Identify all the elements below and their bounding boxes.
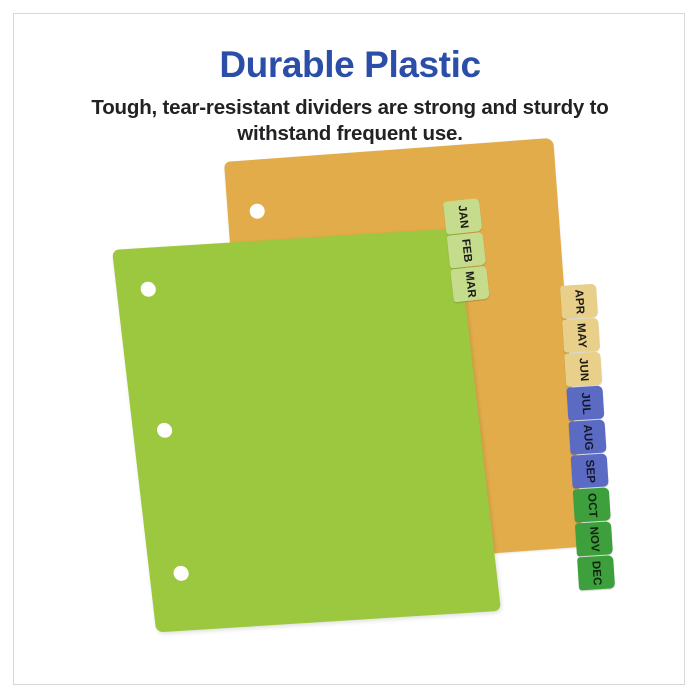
green-plastic-divider: [112, 228, 501, 632]
month-tab-jun: JUN: [564, 352, 602, 387]
hole-punch: [140, 281, 157, 297]
month-tab-dec: DEC: [577, 555, 615, 590]
month-tab-label: SEP: [583, 459, 596, 483]
headline-block: Durable Plastic Tough, tear-resistant di…: [0, 46, 700, 147]
hole-punch: [249, 203, 265, 219]
month-tab-label: MAY: [574, 322, 588, 348]
month-tab-jan: JAN: [443, 198, 482, 235]
month-tab-nov: NOV: [575, 521, 613, 556]
hole-punch: [173, 565, 190, 581]
month-tab-apr: APR: [560, 284, 598, 319]
month-tab-aug: AUG: [569, 419, 607, 454]
month-tab-label: NOV: [587, 526, 601, 552]
month-tab-label: APR: [572, 289, 586, 315]
month-tab-label: JUL: [579, 392, 592, 415]
month-tab-sep: SEP: [571, 453, 609, 488]
month-tab-oct: OCT: [573, 487, 611, 522]
month-tab-mar: MAR: [450, 266, 489, 303]
month-tab-jul: JUL: [566, 386, 604, 421]
month-tab-feb: FEB: [447, 232, 486, 269]
month-tab-may: MAY: [562, 318, 600, 353]
month-tab-label: DEC: [589, 560, 603, 586]
product-marketing-image: Durable Plastic Tough, tear-resistant di…: [0, 0, 700, 700]
month-tab-label: JAN: [455, 204, 469, 229]
month-tab-label: FEB: [459, 238, 473, 263]
page-title: Durable Plastic: [0, 46, 700, 85]
product-photo: APRMAYJUNJULAUGSEPOCTNOVDEC JANFEBMAR: [0, 150, 700, 670]
month-tab-label: AUG: [581, 424, 595, 451]
hole-punch: [156, 422, 173, 438]
month-tab-label: MAR: [463, 270, 478, 298]
month-tab-label: JUN: [577, 357, 590, 381]
month-tab-label: OCT: [585, 492, 599, 518]
